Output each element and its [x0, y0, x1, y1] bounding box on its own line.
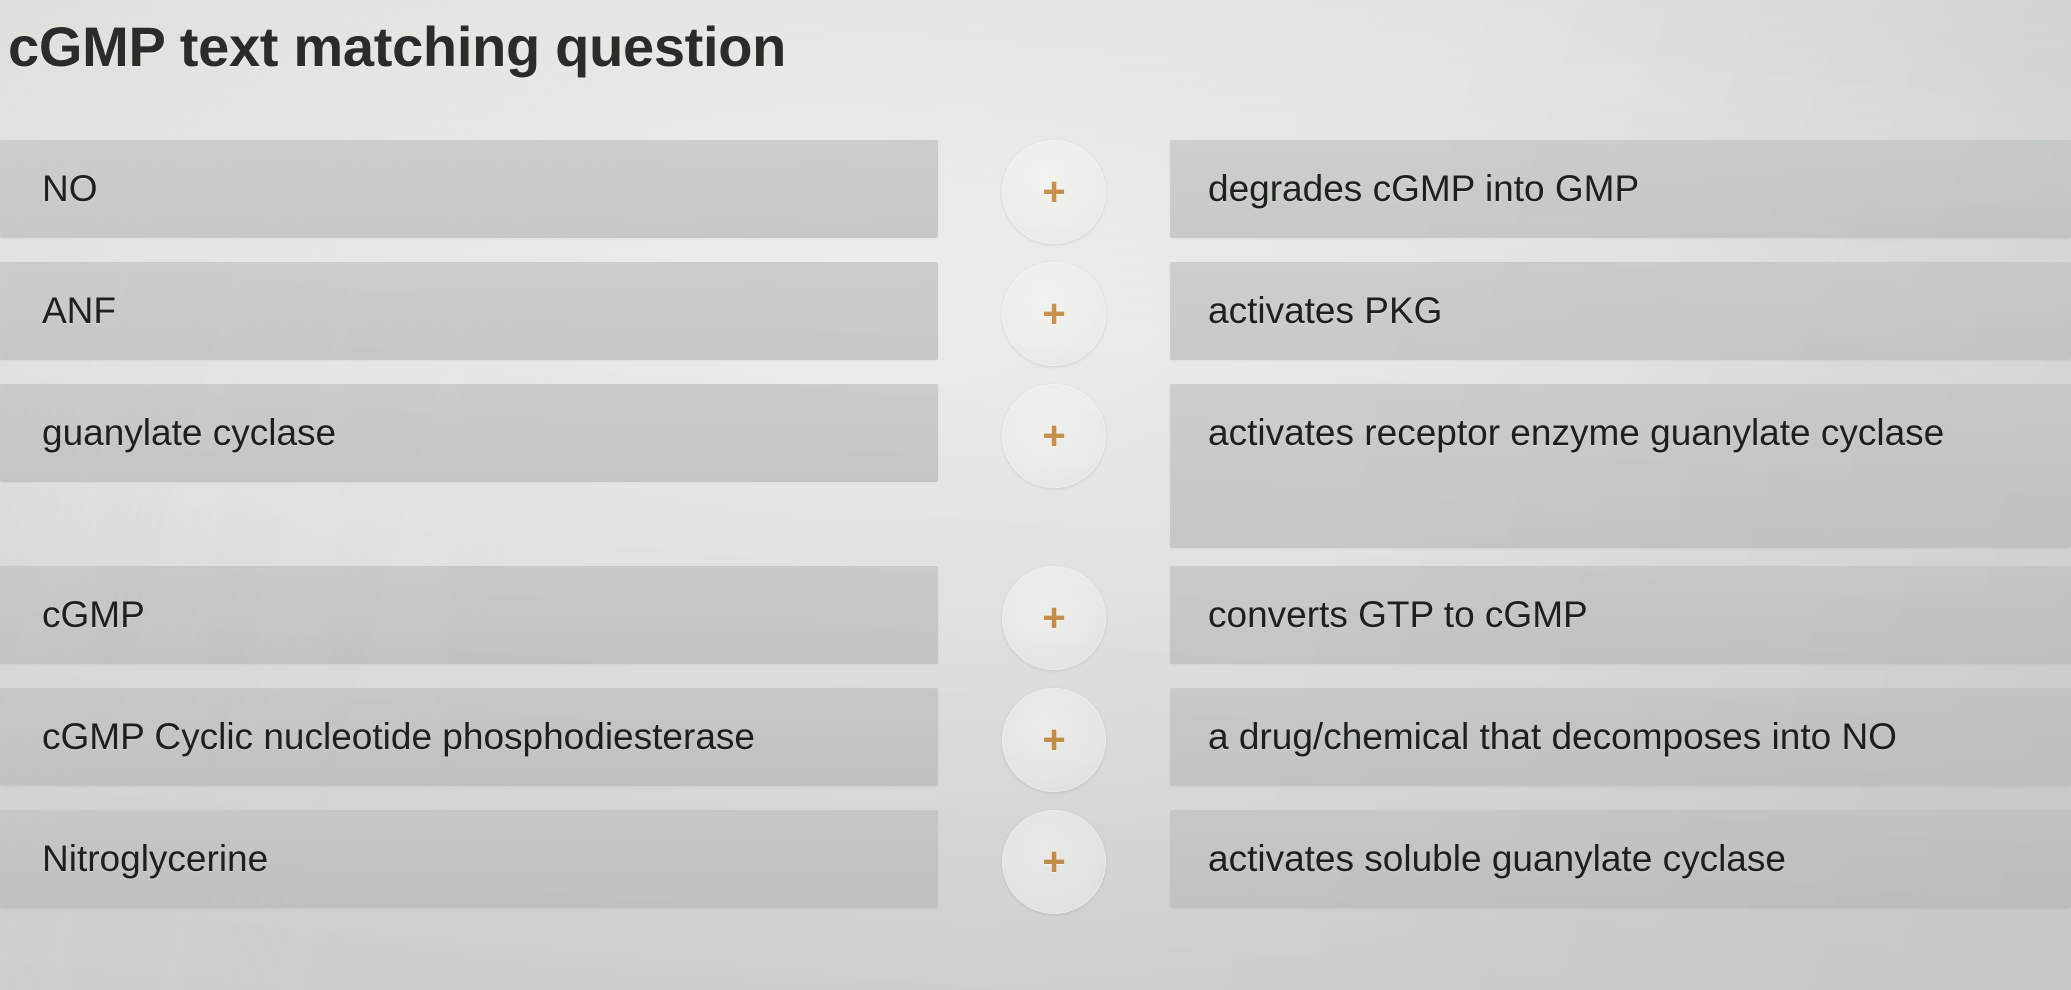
- plus-icon: +: [1042, 172, 1065, 212]
- connector-column: +: [938, 688, 1170, 792]
- match-row: cGMP + converts GTP to cGMP: [0, 566, 2071, 670]
- plus-icon: +: [1042, 720, 1065, 760]
- definition-column: activates PKG: [1170, 262, 2071, 360]
- term-column: guanylate cyclase: [0, 384, 938, 482]
- match-row: guanylate cyclase + activates receptor e…: [0, 384, 2071, 548]
- plus-icon: +: [1042, 416, 1065, 456]
- connector-column: +: [938, 810, 1170, 914]
- term-column: NO: [0, 140, 938, 238]
- match-row: NO + degrades cGMP into GMP: [0, 140, 2071, 244]
- term-card[interactable]: cGMP Cyclic nucleotide phosphodiesterase: [0, 688, 938, 786]
- term-card[interactable]: Nitroglycerine: [0, 810, 938, 908]
- term-card[interactable]: NO: [0, 140, 938, 238]
- term-column: ANF: [0, 262, 938, 360]
- add-match-button[interactable]: +: [1002, 384, 1106, 488]
- term-card[interactable]: cGMP: [0, 566, 938, 664]
- plus-icon: +: [1042, 294, 1065, 334]
- definition-card[interactable]: a drug/chemical that decomposes into NO: [1170, 688, 2071, 786]
- definition-column: activates soluble guanylate cyclase: [1170, 810, 2071, 908]
- connector-column: +: [938, 566, 1170, 670]
- plus-icon: +: [1042, 842, 1065, 882]
- definition-column: a drug/chemical that decomposes into NO: [1170, 688, 2071, 786]
- term-column: cGMP Cyclic nucleotide phosphodiesterase: [0, 688, 938, 786]
- matching-pairs-list: NO + degrades cGMP into GMP ANF +: [0, 140, 2071, 932]
- plus-icon: +: [1042, 598, 1065, 638]
- term-column: Nitroglycerine: [0, 810, 938, 908]
- definition-card[interactable]: activates receptor enzyme guanylate cycl…: [1170, 384, 2071, 548]
- add-match-button[interactable]: +: [1002, 262, 1106, 366]
- add-match-button[interactable]: +: [1002, 688, 1106, 792]
- match-row: cGMP Cyclic nucleotide phosphodiesterase…: [0, 688, 2071, 792]
- definition-column: converts GTP to cGMP: [1170, 566, 2071, 664]
- match-row: ANF + activates PKG: [0, 262, 2071, 366]
- match-row: Nitroglycerine + activates soluble guany…: [0, 810, 2071, 914]
- matching-question-page: cGMP text matching question NO + degrade…: [0, 0, 2071, 990]
- definition-column: degrades cGMP into GMP: [1170, 140, 2071, 238]
- definition-card[interactable]: activates soluble guanylate cyclase: [1170, 810, 2071, 908]
- term-card[interactable]: ANF: [0, 262, 938, 360]
- connector-column: +: [938, 262, 1170, 366]
- add-match-button[interactable]: +: [1002, 566, 1106, 670]
- page-title: cGMP text matching question: [8, 14, 786, 79]
- definition-card[interactable]: activates PKG: [1170, 262, 2071, 360]
- add-match-button[interactable]: +: [1002, 140, 1106, 244]
- connector-column: +: [938, 384, 1170, 488]
- term-column: cGMP: [0, 566, 938, 664]
- add-match-button[interactable]: +: [1002, 810, 1106, 914]
- definition-card[interactable]: converts GTP to cGMP: [1170, 566, 2071, 664]
- definition-column: activates receptor enzyme guanylate cycl…: [1170, 384, 2071, 548]
- connector-column: +: [938, 140, 1170, 244]
- term-card[interactable]: guanylate cyclase: [0, 384, 938, 482]
- definition-card[interactable]: degrades cGMP into GMP: [1170, 140, 2071, 238]
